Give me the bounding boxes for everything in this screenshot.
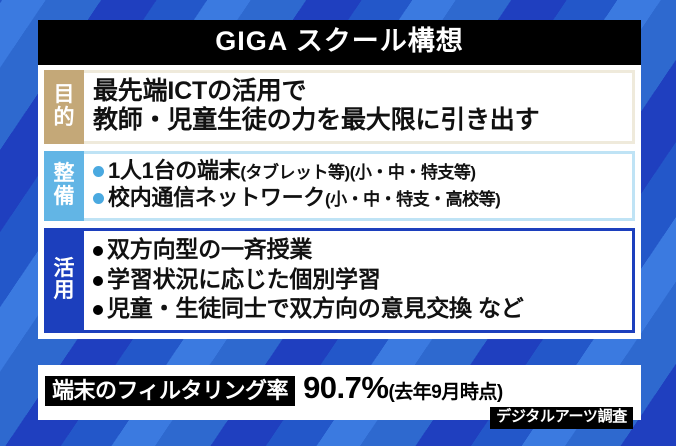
section-utilization-label-char1: 活 bbox=[54, 258, 75, 281]
section-purpose-label-char2: 的 bbox=[54, 107, 75, 130]
section-purpose-body: 最先端ICTの活用で 教師・児童生徒の力を最大限に引き出す bbox=[84, 70, 635, 144]
section-purpose-label: 目 的 bbox=[44, 70, 84, 144]
section-purpose-line-1-text: 最先端ICTの活用で bbox=[93, 77, 306, 106]
section-preparation-line-1-sub: (タブレット等)(小・中・特支等) bbox=[240, 163, 475, 184]
section-preparation-label-char1: 整 bbox=[54, 163, 75, 186]
section-utilization-line-1-text: 双方向型の一斉授業 bbox=[107, 235, 312, 265]
section-purpose: 目 的 最先端ICTの活用で 教師・児童生徒の力を最大限に引き出す bbox=[44, 70, 635, 144]
bullet-dot-icon bbox=[93, 276, 103, 286]
statistic-value: 90.7% bbox=[303, 370, 388, 406]
statistic-card: 端末のフィルタリング率 90.7% (去年9月時点) デジタルアーツ調査 bbox=[38, 365, 641, 420]
section-utilization-line-1: 双方向型の一斉授業 bbox=[93, 235, 624, 265]
statistic-row: 端末のフィルタリング率 90.7% (去年9月時点) bbox=[45, 370, 634, 406]
section-preparation-line-2: 校内通信ネットワーク (小・中・特支・高校等) bbox=[93, 185, 624, 212]
section-utilization-body: 双方向型の一斉授業 学習状況に応じた個別学習 児童・生徒同士で双方向の意見交換 … bbox=[84, 228, 635, 334]
source-row: デジタルアーツ調査 bbox=[45, 407, 634, 429]
statistic-note: (去年9月時点) bbox=[388, 377, 502, 404]
section-purpose-label-char1: 目 bbox=[54, 84, 75, 107]
section-preparation-line-2-sub: (小・中・特支・高校等) bbox=[325, 190, 500, 211]
section-purpose-line-1: 最先端ICTの活用で bbox=[93, 77, 624, 106]
section-utilization-line-2: 学習状況に応じた個別学習 bbox=[93, 265, 624, 295]
source-attribution: デジタルアーツ調査 bbox=[490, 407, 633, 429]
section-purpose-line-2: 教師・児童生徒の力を最大限に引き出す bbox=[93, 106, 624, 135]
section-preparation-label-char2: 備 bbox=[54, 186, 75, 209]
main-card: GIGA スクール構想 目 的 最先端ICTの活用で 教師・児童生徒の力を最大限… bbox=[38, 20, 641, 339]
section-preparation-label: 整 備 bbox=[44, 151, 84, 221]
section-preparation-line-1-text: 1人1台の端末 bbox=[108, 158, 240, 185]
section-utilization: 活 用 双方向型の一斉授業 学習状況に応じた個別学習 児童・生徒同士で双方向の意… bbox=[44, 228, 635, 334]
bullet-dot-icon bbox=[93, 166, 104, 177]
section-preparation-line-2-text: 校内通信ネットワーク bbox=[108, 185, 325, 212]
section-preparation: 整 備 1人1台の端末 (タブレット等)(小・中・特支等) 校内通信ネットワーク… bbox=[44, 151, 635, 221]
page-title: GIGA スクール構想 bbox=[38, 20, 641, 65]
bullet-dot-icon bbox=[93, 305, 103, 315]
section-preparation-line-1: 1人1台の端末 (タブレット等)(小・中・特支等) bbox=[93, 158, 624, 185]
section-purpose-line-2-text: 教師・児童生徒の力を最大限に引き出す bbox=[93, 106, 539, 135]
section-utilization-line-3-text: 児童・生徒同士で双方向の意見交換 など bbox=[107, 294, 524, 324]
section-preparation-body: 1人1台の端末 (タブレット等)(小・中・特支等) 校内通信ネットワーク (小・… bbox=[84, 151, 635, 221]
section-utilization-label-char2: 用 bbox=[54, 280, 75, 303]
section-utilization-line-2-text: 学習状況に応じた個別学習 bbox=[107, 265, 381, 295]
statistic-label: 端末のフィルタリング率 bbox=[45, 376, 295, 406]
bullet-dot-icon bbox=[93, 193, 104, 204]
section-utilization-line-3: 児童・生徒同士で双方向の意見交換 など bbox=[93, 294, 624, 324]
infographic-stage: GIGA スクール構想 目 的 最先端ICTの活用で 教師・児童生徒の力を最大限… bbox=[0, 0, 676, 446]
bullet-dot-icon bbox=[93, 246, 103, 256]
section-utilization-label: 活 用 bbox=[44, 228, 84, 334]
sections-container: 目 的 最先端ICTの活用で 教師・児童生徒の力を最大限に引き出す 整 備 bbox=[38, 65, 641, 339]
